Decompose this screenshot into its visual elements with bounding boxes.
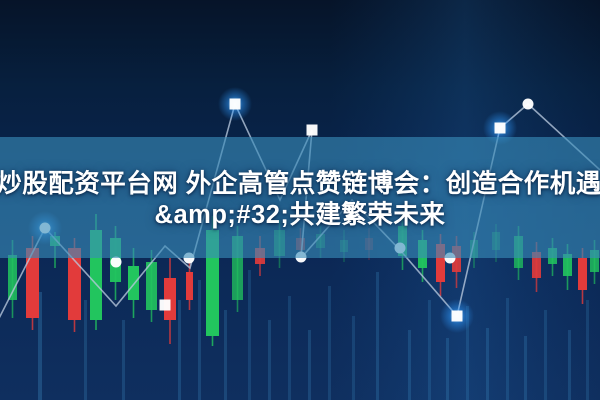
volume-bars bbox=[38, 270, 589, 400]
data-point-markers bbox=[28, 87, 534, 333]
banner-canvas: 炒股配资平台网 外企高管点赞链博会：创造合作机遇 &amp;#32;共建繁荣未来 bbox=[0, 0, 600, 400]
candlestick-chart bbox=[0, 0, 600, 400]
